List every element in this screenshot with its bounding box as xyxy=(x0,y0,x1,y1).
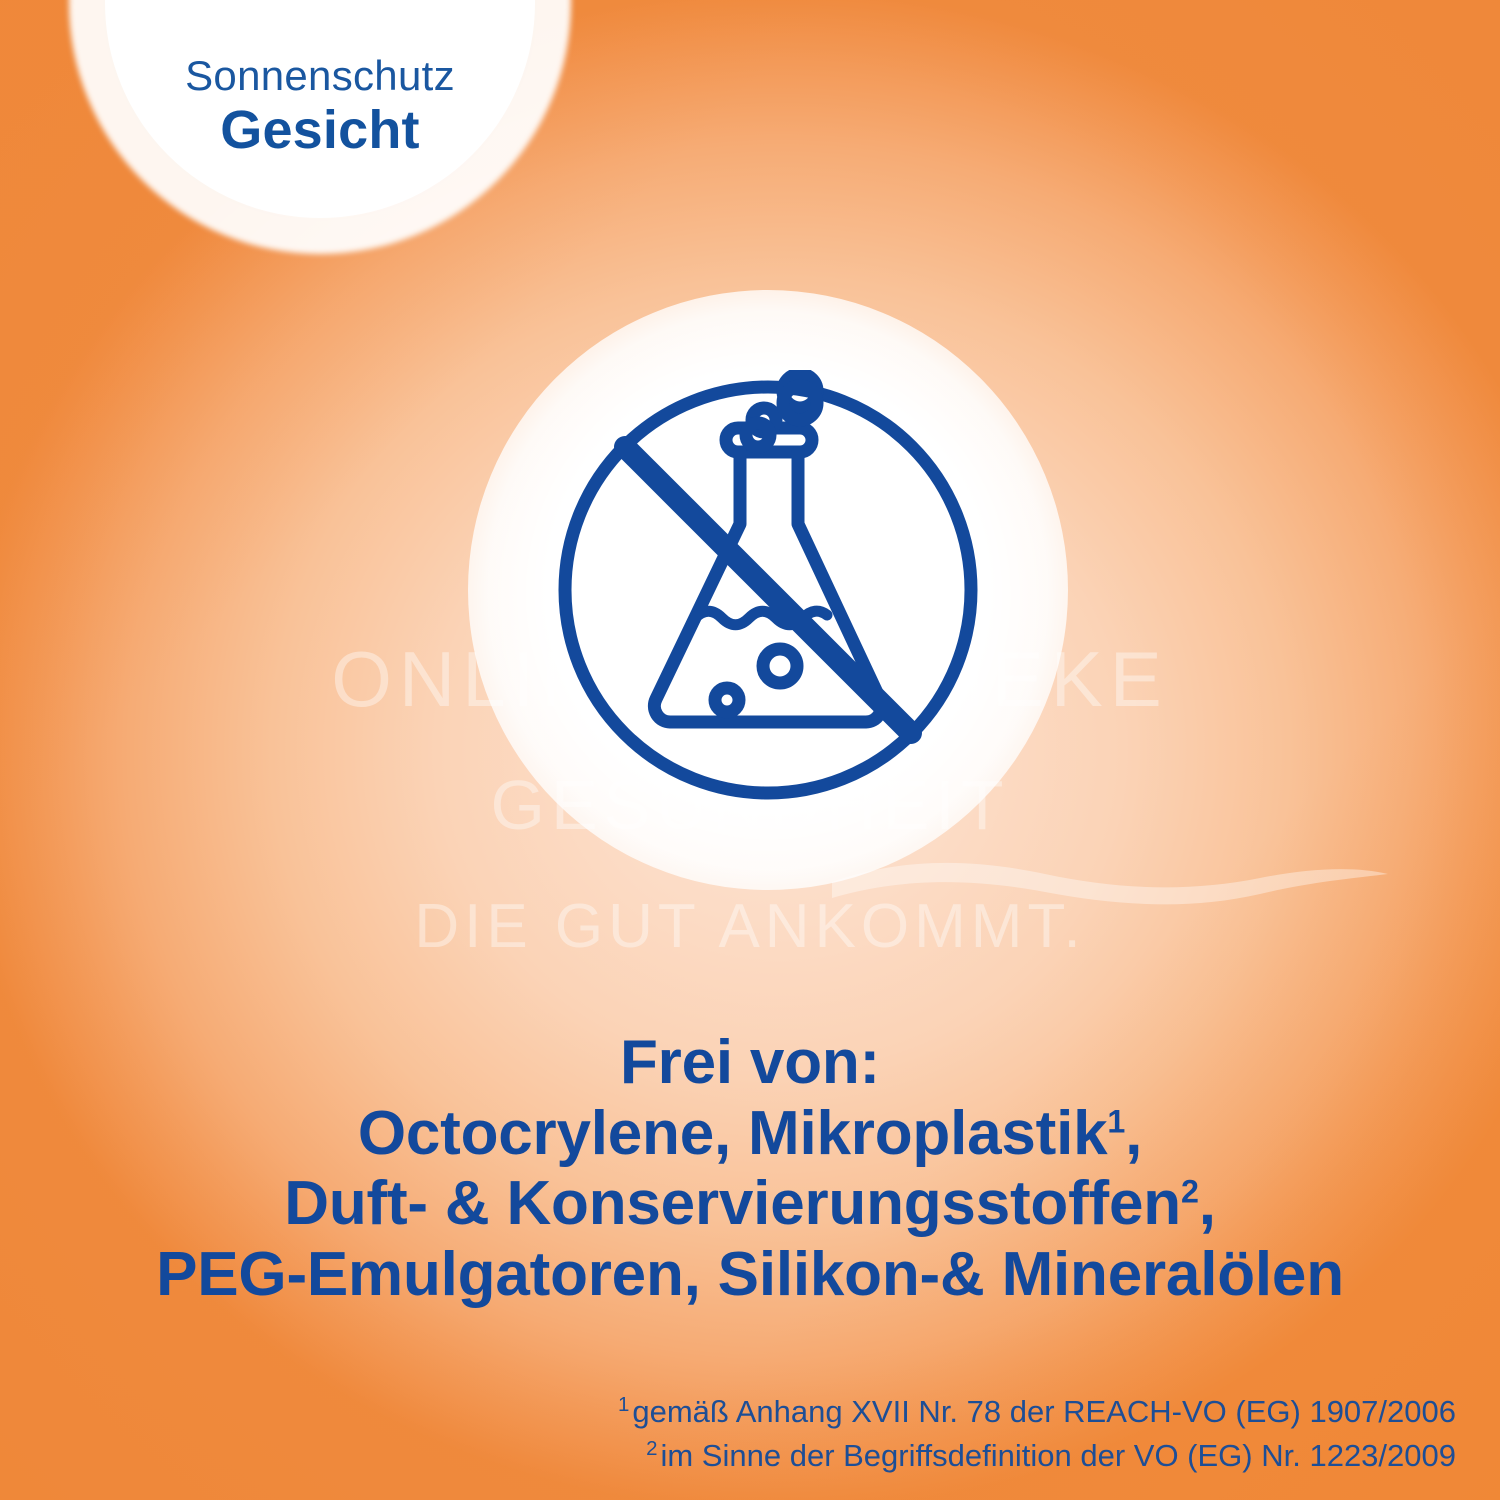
badge-label-category: Sonnenschutz xyxy=(185,54,455,99)
product-claim-card: ONLINE APOTHEKE GESUNDHEIT DIE GUT ANKOM… xyxy=(0,0,1500,1500)
headline-line-2-footnote-marker: 1 xyxy=(1107,1103,1125,1139)
footnotes: 1gemäß Anhang XVII Nr. 78 der REACH-VO (… xyxy=(618,1390,1456,1478)
headline-line-2-text: Octocrylene, Mikroplastik xyxy=(358,1099,1108,1168)
watermark-swoosh-icon xyxy=(830,852,1390,912)
headline-line-3-tail: , xyxy=(1199,1169,1216,1238)
bubble-inside-small-icon xyxy=(715,688,739,712)
footnote-1: 1gemäß Anhang XVII Nr. 78 der REACH-VO (… xyxy=(618,1390,1456,1434)
headline-line-4: PEG-Emulgatoren, Silikon-& Mineralölen xyxy=(0,1240,1500,1311)
footnote-1-marker: 1 xyxy=(618,1393,629,1416)
headline-line-2: Octocrylene, Mikroplastik1, xyxy=(0,1099,1500,1170)
footnote-2-marker: 2 xyxy=(646,1437,657,1460)
bubble-inside-large-icon xyxy=(763,649,797,683)
claim-headline: Frei von: Octocrylene, Mikroplastik1, Du… xyxy=(0,1028,1500,1311)
badge-label-area: Gesicht xyxy=(220,101,419,160)
prohibition-slash-icon xyxy=(625,447,911,733)
headline-line-3-footnote-marker: 2 xyxy=(1181,1174,1199,1210)
headline-line-3: Duft- & Konservierungsstoffen2, xyxy=(0,1169,1500,1240)
headline-line-3-text: Duft- & Konservierungsstoffen xyxy=(284,1169,1181,1238)
watermark-line-3: DIE GUT ANKOMMT. xyxy=(0,896,1500,958)
no-chemicals-icon xyxy=(548,370,988,810)
category-badge: Sonnenschutz Gesicht xyxy=(105,0,535,218)
footnote-1-text: gemäß Anhang XVII Nr. 78 der REACH-VO (E… xyxy=(632,1394,1456,1429)
footnote-2: 2im Sinne der Begriffsdefinition der VO … xyxy=(618,1434,1456,1478)
footnote-2-text: im Sinne der Begriffsdefinition der VO (… xyxy=(660,1438,1456,1473)
headline-line-1: Frei von: xyxy=(0,1028,1500,1099)
headline-line-2-tail: , xyxy=(1125,1099,1142,1168)
